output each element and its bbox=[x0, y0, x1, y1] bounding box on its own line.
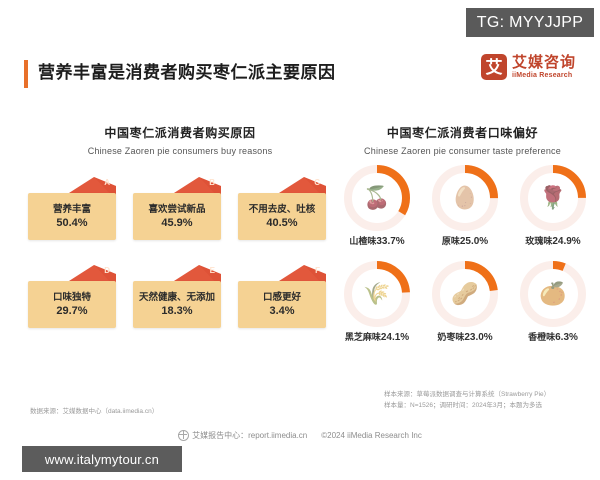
card-body: 喜欢尝试新品45.9% bbox=[133, 193, 221, 240]
title-accent-bar bbox=[24, 60, 28, 88]
donut-value: 33.7% bbox=[376, 236, 404, 247]
report-center-label: 艾媒报告中心：report.iimedia.cn bbox=[192, 430, 307, 441]
black-sesame-icon: 🌾 bbox=[343, 260, 411, 328]
card-label: 口感更好 bbox=[263, 292, 301, 304]
brand-name-en: iiMedia Research bbox=[512, 72, 576, 79]
milk-date-icon: 🥜 bbox=[431, 260, 499, 328]
donut-caption: 香橙味6.3% bbox=[512, 330, 594, 343]
page-title: 营养丰富是消费者购买枣仁派主要原因 bbox=[38, 58, 336, 83]
footnote-sample-line1: 样本来源：草莓派数据调查与计算系统（Strawberry Pie） bbox=[384, 389, 550, 400]
donut-flavor-label: 玫瑰味 bbox=[525, 236, 552, 246]
report-center-link[interactable]: 艾媒报告中心：report.iimedia.cn bbox=[178, 430, 307, 441]
card-label: 营养丰富 bbox=[53, 204, 91, 216]
donut-ring: 🍊 bbox=[519, 260, 587, 328]
donut-flavor-label: 山楂味 bbox=[349, 236, 376, 246]
card-badge-letter: C bbox=[314, 178, 320, 187]
orange-icon: 🍊 bbox=[519, 260, 587, 328]
header: 营养丰富是消费者购买枣仁派主要原因 艾 艾媒咨询 iiMedia Researc… bbox=[24, 58, 576, 92]
reason-card: F口感更好3.4% bbox=[238, 266, 326, 328]
card-body: 口味独特29.7% bbox=[28, 281, 116, 328]
donut-flavor-label: 黑芝麻味 bbox=[345, 332, 381, 342]
donut-ring: 🍒 bbox=[343, 164, 411, 232]
taste-donut: 🌾黑芝麻味24.1% bbox=[336, 260, 418, 364]
brand-name-cn: 艾媒咨询 bbox=[512, 55, 576, 70]
reason-card: A营养丰富50.4% bbox=[28, 178, 116, 240]
right-section-heading: 中国枣仁派消费者口味偏好 Chinese Zaoren pie consumer… bbox=[335, 124, 590, 156]
card-body: 营养丰富50.4% bbox=[28, 193, 116, 240]
donut-caption: 奶枣味23.0% bbox=[424, 330, 506, 343]
taste-donut: 🥜奶枣味23.0% bbox=[424, 260, 506, 364]
copyright-label: ©2024 iiMedia Research Inc bbox=[321, 431, 422, 440]
card-value: 18.3% bbox=[161, 305, 192, 317]
card-badge-letter: B bbox=[209, 178, 215, 187]
reason-card-grid: A营养丰富50.4%B喜欢尝试新品45.9%C不用去皮、吐核40.5%D口味独特… bbox=[28, 178, 328, 348]
taste-donut-grid: 🍒山楂味33.7%🥚原味25.0%🌹玫瑰味24.9%🌾黑芝麻味24.1%🥜奶枣味… bbox=[336, 164, 594, 344]
card-value: 45.9% bbox=[161, 217, 192, 229]
plain-date-icon: 🥚 bbox=[431, 164, 499, 232]
card-body: 不用去皮、吐核40.5% bbox=[238, 193, 326, 240]
donut-value: 6.3% bbox=[555, 332, 578, 343]
footnote-sample: 样本来源：草莓派数据调查与计算系统（Strawberry Pie） 样本量：N=… bbox=[384, 389, 550, 411]
right-section-title-en: Chinese Zaoren pie consumer taste prefer… bbox=[335, 146, 590, 156]
donut-caption: 山楂味33.7% bbox=[336, 234, 418, 247]
donut-value: 24.1% bbox=[381, 332, 409, 343]
donut-ring: 🥚 bbox=[431, 164, 499, 232]
footnote-sample-line2: 样本量：N=1526；调研时间：2024年3月；本题为多选 bbox=[384, 400, 550, 411]
donut-flavor-label: 香橙味 bbox=[528, 332, 555, 342]
brand-mark-icon: 艾 bbox=[481, 54, 507, 80]
bottom-bar: 艾媒报告中心：report.iimedia.cn ©2024 iiMedia R… bbox=[0, 424, 600, 446]
taste-donut: 🥚原味25.0% bbox=[424, 164, 506, 268]
infographic-page: TG: MYYJJPP 营养丰富是消费者购买枣仁派主要原因 艾 艾媒咨询 iiM… bbox=[0, 0, 600, 480]
url-watermark: www.italymytour.cn bbox=[22, 446, 182, 472]
reason-card: D口味独特29.7% bbox=[28, 266, 116, 328]
card-value: 40.5% bbox=[266, 217, 297, 229]
taste-donut: 🍊香橙味6.3% bbox=[512, 260, 594, 364]
brand-logo: 艾 艾媒咨询 iiMedia Research bbox=[481, 54, 576, 80]
reason-card: C不用去皮、吐核40.5% bbox=[238, 178, 326, 240]
hawthorn-icon: 🍒 bbox=[343, 164, 411, 232]
donut-flavor-label: 原味 bbox=[442, 236, 460, 246]
donut-ring: 🥜 bbox=[431, 260, 499, 328]
footnote-source: 数据来源：艾媒数据中心（data.iimedia.cn） bbox=[30, 406, 158, 417]
card-badge-letter: F bbox=[315, 266, 320, 275]
card-label: 天然健康、无添加 bbox=[139, 292, 215, 304]
donut-ring: 🌾 bbox=[343, 260, 411, 328]
donut-caption: 原味25.0% bbox=[424, 234, 506, 247]
card-label: 喜欢尝试新品 bbox=[148, 204, 205, 216]
taste-donut: 🍒山楂味33.7% bbox=[336, 164, 418, 268]
card-badge-letter: E bbox=[210, 266, 215, 275]
card-value: 50.4% bbox=[56, 217, 87, 229]
donut-flavor-label: 奶枣味 bbox=[437, 332, 464, 342]
card-badge-letter: A bbox=[104, 178, 110, 187]
card-badge-letter: D bbox=[104, 266, 110, 275]
left-section-title-cn: 中国枣仁派消费者购买原因 bbox=[30, 124, 330, 141]
donut-caption: 黑芝麻味24.1% bbox=[336, 330, 418, 343]
taste-donut: 🌹玫瑰味24.9% bbox=[512, 164, 594, 268]
donut-caption: 玫瑰味24.9% bbox=[512, 234, 594, 247]
donut-value: 24.9% bbox=[552, 236, 580, 247]
donut-value: 23.0% bbox=[464, 332, 492, 343]
card-body: 天然健康、无添加18.3% bbox=[133, 281, 221, 328]
left-section-title-en: Chinese Zaoren pie consumers buy reasons bbox=[30, 146, 330, 156]
card-body: 口感更好3.4% bbox=[238, 281, 326, 328]
right-section-title-cn: 中国枣仁派消费者口味偏好 bbox=[335, 124, 590, 141]
donut-value: 25.0% bbox=[460, 236, 488, 247]
left-section-heading: 中国枣仁派消费者购买原因 Chinese Zaoren pie consumer… bbox=[30, 124, 330, 156]
tg-watermark: TG: MYYJJPP bbox=[466, 8, 594, 37]
card-value: 29.7% bbox=[56, 305, 87, 317]
reason-card: E天然健康、无添加18.3% bbox=[133, 266, 221, 328]
card-value: 3.4% bbox=[269, 305, 294, 317]
globe-icon bbox=[178, 430, 189, 441]
rose-icon: 🌹 bbox=[519, 164, 587, 232]
reason-card: B喜欢尝试新品45.9% bbox=[133, 178, 221, 240]
card-label: 口味独特 bbox=[53, 292, 91, 304]
card-label: 不用去皮、吐核 bbox=[249, 204, 316, 216]
donut-ring: 🌹 bbox=[519, 164, 587, 232]
